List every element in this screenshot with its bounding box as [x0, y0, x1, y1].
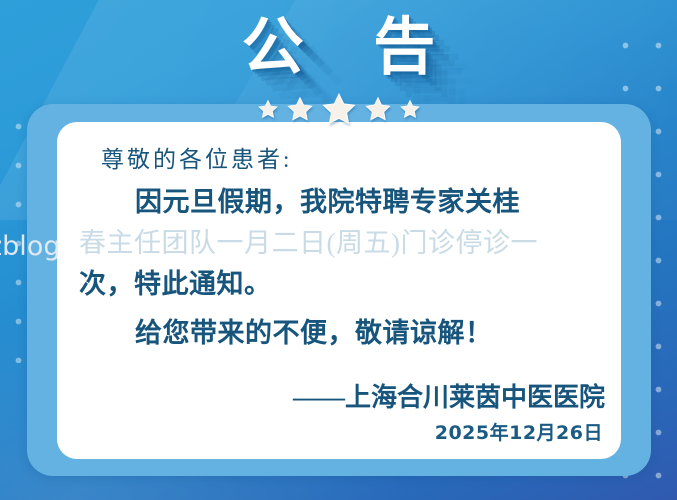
star-icon: [258, 99, 278, 119]
star-icon: [365, 96, 391, 122]
watermark-label: zblog: [0, 231, 60, 262]
notice-apology-line: 给您带来的不便，敬请谅解！: [79, 305, 607, 354]
star-icon: [287, 96, 313, 122]
notice-card-frame: 尊敬的各位患者: 因元旦假期，我院特聘专家关桂 春主任团队一月二日(周五)门诊停…: [27, 104, 651, 476]
notice-salutation: 尊敬的各位患者:: [79, 138, 607, 182]
notice-date: 2025年12月26日: [79, 418, 607, 448]
announcement-poster: 公 告 尊敬的各位患者: 因元旦假期，我院特聘专家关桂 春主任团队一月二日(周五…: [0, 0, 677, 500]
poster-title-container: 公 告: [0, 6, 677, 92]
star-icon: [400, 99, 420, 119]
notice-content: 尊敬的各位患者: 因元旦假期，我院特聘专家关桂 春主任团队一月二日(周五)门诊停…: [79, 138, 607, 448]
star-decoration-row: [0, 92, 677, 126]
page-title: 公 告: [218, 6, 460, 88]
notice-body-line-3: 次，特此通知。: [79, 264, 607, 305]
notice-card: 尊敬的各位患者: 因元旦假期，我院特聘专家关桂 春主任团队一月二日(周五)门诊停…: [57, 122, 621, 459]
star-icon: [322, 92, 356, 126]
notice-signature: ——上海合川莱茵中医医院: [79, 354, 607, 418]
notice-body-line-2: 春主任团队一月二日(周五)门诊停诊一: [79, 223, 607, 264]
notice-body-line-1: 因元旦假期，我院特聘专家关桂: [79, 182, 607, 223]
